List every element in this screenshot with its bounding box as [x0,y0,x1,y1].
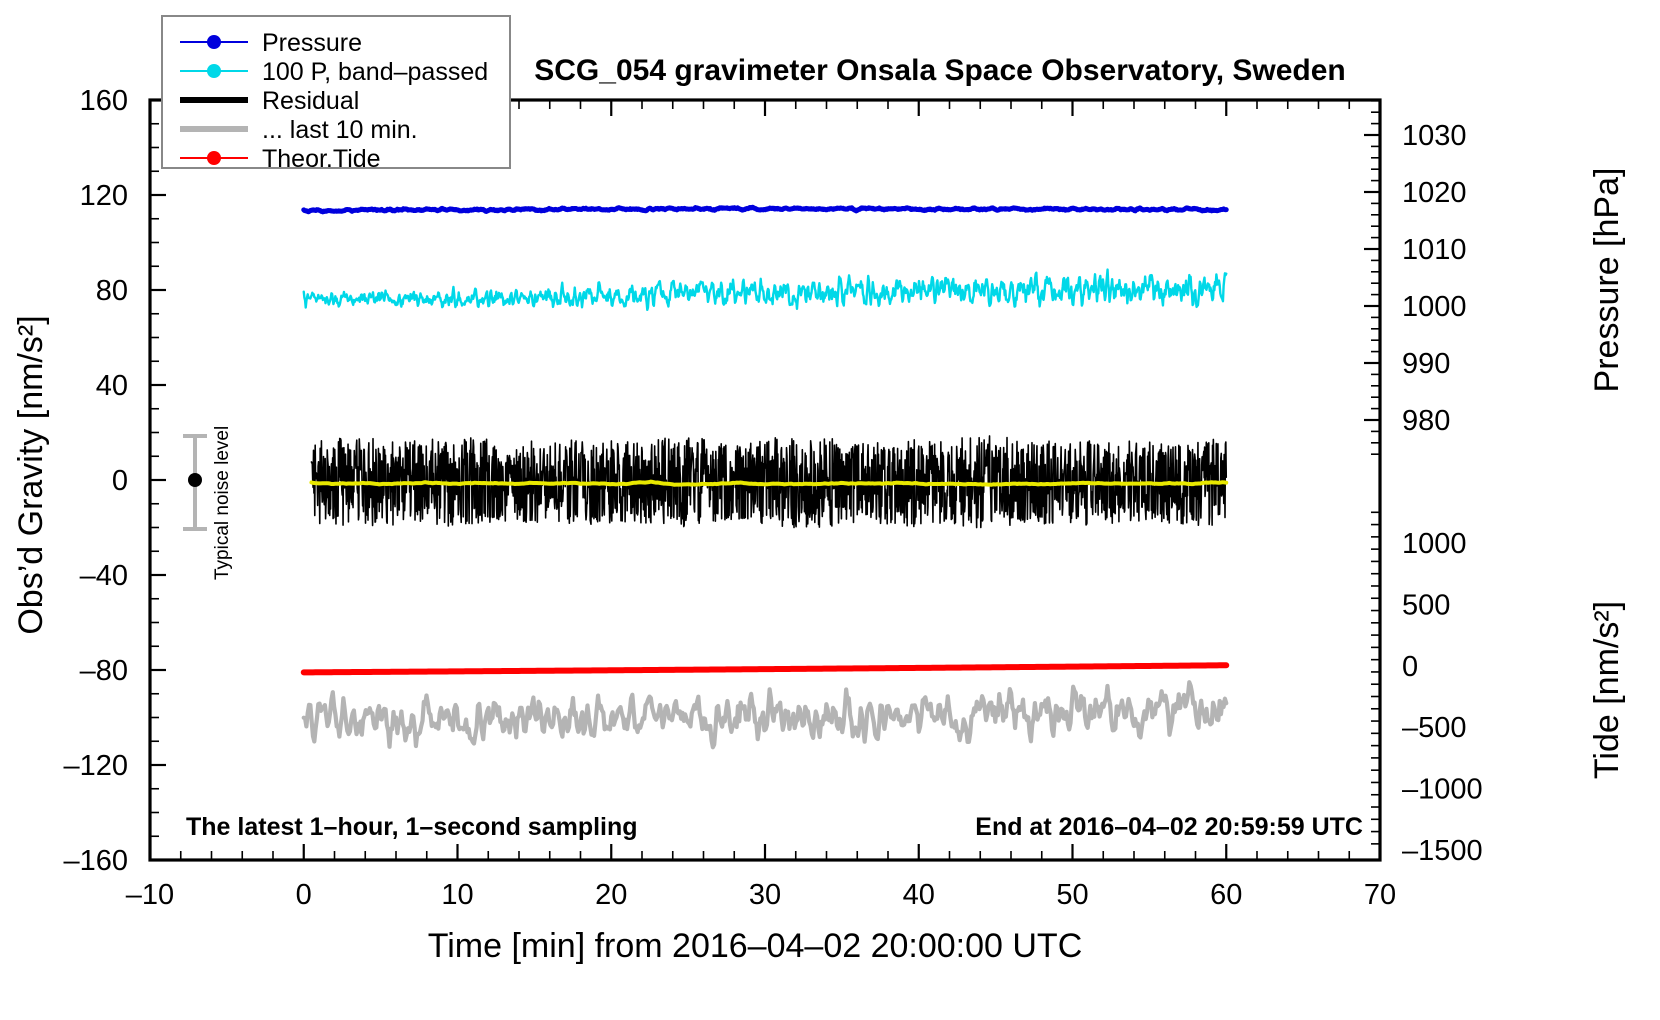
y-tick-label-right-tide: 1000 [1402,528,1467,560]
y-tick-label-right-tide: 500 [1402,589,1450,621]
y-tick-label-right-pressure: 990 [1402,348,1450,380]
y-tick-label-right-tide: –500 [1402,712,1467,744]
x-tick-label: 70 [1364,879,1396,911]
y-tick-label-left: 40 [96,370,128,402]
y-axis-right-tide-title: Tide [nm/s²] [1588,601,1626,779]
legend-label: Pressure [262,29,362,57]
noise-level-label: Typical noise level [212,426,233,580]
series-pressure [304,207,1227,212]
y-tick-label-left: 80 [96,275,128,307]
y-axis-left-title: Obs’d Gravity [nm/s²] [12,315,50,634]
y-tick-label-right-tide: 0 [1402,651,1418,683]
legend-swatch-dot [207,35,221,49]
y-tick-label-right-pressure: 1020 [1402,177,1467,209]
x-tick-label: 10 [441,879,473,911]
x-tick-label: 20 [595,879,627,911]
x-tick-label: 50 [1056,879,1088,911]
y-tick-label-left: 120 [80,180,128,212]
x-tick-label: –10 [126,879,174,911]
end-time-note: End at 2016–04–02 20:59:59 UTC [975,813,1363,841]
noise-errorbar-dot [188,473,202,487]
y-tick-label-right-pressure: 1030 [1402,120,1467,152]
figure-root: Obs’d Gravity [nm/s²] Pressure [hPa] Tid… [0,0,1660,1020]
y-axis-left-title-text: Obs’d Gravity [nm/s²] [12,315,50,634]
legend-label: Theor.Tide [262,145,381,173]
y-tick-label-left: 0 [112,465,128,497]
y-tick-label-right-pressure: 980 [1402,405,1450,437]
y-axis-right-pressure-title: Pressure [hPa] [1588,168,1626,393]
y-tick-label-left: –80 [80,655,128,687]
y-axis-right-pressure-title-text: Pressure [hPa] [1588,168,1626,393]
series-residual-smooth-overlay [311,482,1226,485]
y-tick-label-left: –160 [63,845,128,877]
y-tick-label-left: 160 [80,85,128,117]
y-tick-label-right-pressure: 1010 [1402,234,1467,266]
legend-swatch-dot [207,151,221,165]
y-axis-right-tide-title-text: Tide [nm/s²] [1588,601,1626,779]
x-tick-label: 30 [749,879,781,911]
y-tick-label-right-tide: –1500 [1402,835,1483,867]
x-tick-label: 60 [1210,879,1242,911]
gravimeter-chart: Obs’d Gravity [nm/s²] Pressure [hPa] Tid… [0,0,1660,1020]
legend-label: 100 P, band–passed [262,58,488,86]
y-tick-label-left: –120 [63,750,128,782]
sampling-note: The latest 1–hour, 1–second sampling [186,813,638,841]
legend-label: ... last 10 min. [262,116,418,144]
legend: Pressure100 P, band–passedResidual... la… [162,16,510,173]
x-tick-label: 0 [296,879,312,911]
x-axis-title: Time [min] from 2016–04–02 20:00:00 UTC [428,927,1083,965]
legend-swatch-dot [207,64,221,78]
y-tick-label-right-pressure: 1000 [1402,291,1467,323]
chart-title: SCG_054 gravimeter Onsala Space Observat… [534,54,1346,87]
legend-label: Residual [262,87,359,115]
x-tick-label: 40 [903,879,935,911]
y-tick-label-left: –40 [80,560,128,592]
y-tick-label-right-tide: –1000 [1402,774,1483,806]
